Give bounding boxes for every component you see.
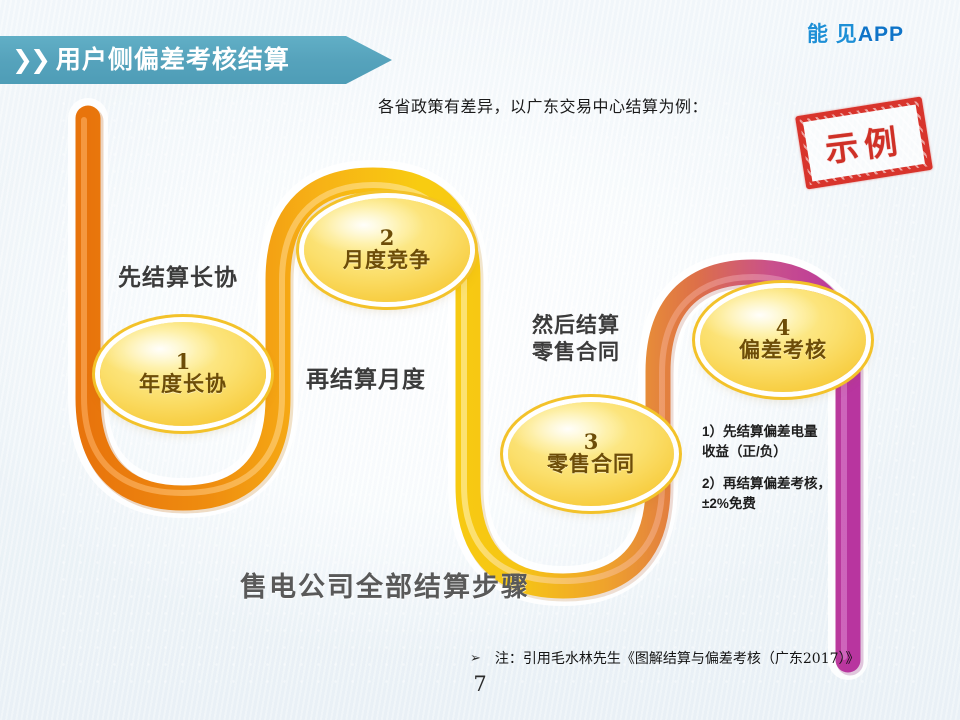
logo-text-en: APP <box>858 23 904 46</box>
page-title: 用户侧偏差考核结算 <box>56 48 290 73</box>
step-label: 偏差考核 <box>739 339 827 364</box>
flow-caption-3-line2: 零售合同 <box>532 339 620 366</box>
flow-caption-1: 先结算长协 <box>118 258 238 292</box>
step-label: 零售合同 <box>547 453 635 478</box>
step-number: 3 <box>584 431 599 453</box>
footnote: ➢ 注：引用毛水林先生《图解结算与偏差考核（广东2017）》 <box>470 648 860 668</box>
note-line: 2）再结算偏差考核， <box>702 474 888 494</box>
step-number: 2 <box>380 227 395 249</box>
stamp-label: 示例 <box>796 98 932 187</box>
note-line: 1）先结算偏差电量 <box>702 422 888 442</box>
diagram-summary-title: 售电公司全部结算步骤 <box>240 565 530 604</box>
flow-caption-2: 再结算月度 <box>306 360 426 394</box>
step-number: 1 <box>176 351 191 373</box>
note-line: ±2%免费 <box>702 494 888 514</box>
step-label: 月度竞争 <box>343 249 431 274</box>
flow-step-3[interactable]: 3 零售合同 <box>508 402 674 506</box>
flow-step-2[interactable]: 2 月度竞争 <box>304 198 470 302</box>
note-item: 1）先结算偏差电量 收益（正/负） <box>702 422 888 461</box>
note-item: 2）再结算偏差考核， ±2%免费 <box>702 474 888 513</box>
subtitle-text: 各省政策有差异，以广东交易中心结算为例： <box>378 93 708 117</box>
flow-caption-3: 然后结算 零售合同 <box>532 312 620 367</box>
chevron-right-icon: ❯❯ <box>12 48 48 73</box>
settlement-notes: 1）先结算偏差电量 收益（正/负） 2）再结算偏差考核， ±2%免费 <box>702 422 888 526</box>
step-label: 年度长协 <box>139 373 227 398</box>
slide-header-banner: ❯❯ 用户侧偏差考核结算 <box>0 36 392 84</box>
footnote-text: 注：引用毛水林先生《图解结算与偏差考核（广东2017）》 <box>495 648 860 668</box>
brand-logo: 能 见APP <box>807 18 904 48</box>
arrow-bullet-icon: ➢ <box>470 651 481 666</box>
page-number: 7 <box>0 672 960 696</box>
note-line: 收益（正/负） <box>702 442 888 462</box>
step-number: 4 <box>776 317 791 339</box>
slide-canvas: ❯❯ 用户侧偏差考核结算 能 见APP 各省政策有差异，以广东交易中心结算为例：… <box>0 0 960 720</box>
logo-text-cn: 能 见 <box>807 23 858 46</box>
flow-step-1[interactable]: 1 年度长协 <box>100 322 266 426</box>
flow-step-4[interactable]: 4 偏差考核 <box>700 288 866 392</box>
flow-caption-3-line1: 然后结算 <box>532 312 620 339</box>
